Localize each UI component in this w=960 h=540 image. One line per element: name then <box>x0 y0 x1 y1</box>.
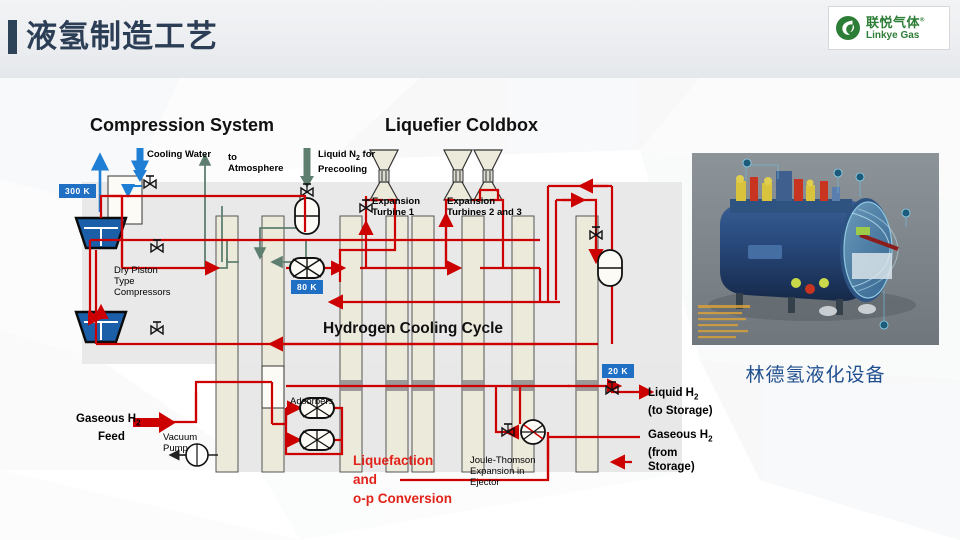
label-liquefaction-op-conversion: Liquefaction and o-p Conversion <box>353 451 452 508</box>
label-joule-thomson: Joule-Thomson Expansion in Ejector <box>470 455 535 488</box>
dry-piston-compressor-1 <box>76 218 126 248</box>
label-hydrogen-cooling-cycle: Hydrogen Cooling Cycle <box>323 320 503 338</box>
precooler-heat-exchanger-80k <box>290 258 324 278</box>
badge-temperature-80k: 80 K <box>291 280 323 294</box>
adsorber-vessel-2 <box>300 430 334 450</box>
label-liquid-n2-precooling: Liquid N2 for Precooling <box>318 149 375 175</box>
liquefier-photo <box>692 153 939 345</box>
badge-temperature-300k: 300 K <box>59 184 96 198</box>
label-cooling-water: Cooling Water <box>147 149 211 160</box>
subscript-2: 2 <box>136 418 140 427</box>
photo-caption: 林德氢液化设备 <box>692 360 939 387</box>
subscript-2: 2 <box>708 434 712 443</box>
expansion-turbine-2 <box>444 150 472 200</box>
label-to-atmosphere: to Atmosphere <box>228 152 283 174</box>
badge-temperature-20k: 20 K <box>602 364 634 378</box>
label-dry-piston-compressors: Dry Piston Type Compressors <box>114 265 171 298</box>
label-liquid-h2-to-storage: Liquid H2(to Storage) <box>648 386 713 418</box>
slide-root: 液氢制造工艺 联悦气体® Linkye Gas Compression Syst… <box>0 0 960 540</box>
phase-separator-vessel <box>598 250 622 286</box>
label-gaseous-h2-feed: Gaseous H2Feed <box>76 412 141 444</box>
label-gaseous-h2-from-storage: Gaseous H2(from Storage) <box>648 428 713 474</box>
label-vacuum-pump: Vacuum Pump <box>163 432 197 454</box>
subscript-2: 2 <box>694 392 698 401</box>
nitrogen-separator-vessel <box>295 198 319 234</box>
label-adsorbers: Adsorbers <box>290 396 333 407</box>
liquefier-photo-illustration <box>692 153 939 345</box>
label-expansion-turbine-1: Expansion Turbine 1 <box>372 196 420 218</box>
ejector-joule-thomson <box>521 420 545 444</box>
label-expansion-turbines-2-3: Expansion Turbines 2 and 3 <box>447 196 522 218</box>
